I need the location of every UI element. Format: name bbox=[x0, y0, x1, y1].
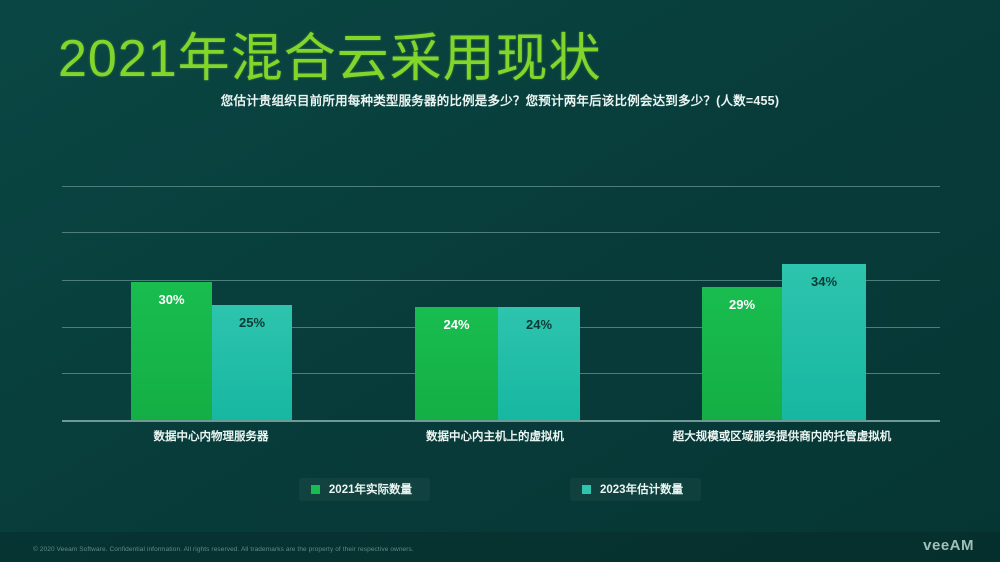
bar-2023-g0[interactable]: 25% bbox=[212, 305, 292, 422]
slide-canvas: 2021年混合云采用现状 您估计贵组织目前所用每种类型服务器的比例是多少？您预计… bbox=[0, 0, 1000, 562]
legend-label: 2021年实际数量 bbox=[329, 481, 412, 497]
bar-value-label: 29% bbox=[702, 297, 782, 312]
bar-2021-g2[interactable]: 29% bbox=[702, 287, 782, 422]
copyright-text: © 2020 Veeam Software. Confidential info… bbox=[33, 546, 414, 553]
category-label-0: 数据中心内物理服务器 bbox=[91, 428, 331, 444]
x-axis-line bbox=[62, 420, 940, 422]
chart-plot-area: 30% 25% 24% 24% 29% 34% bbox=[62, 180, 940, 422]
page-title: 2021年混合云采用现状 bbox=[58, 16, 602, 91]
bar-2023-g2[interactable]: 34% bbox=[782, 264, 866, 422]
gridline bbox=[62, 232, 940, 233]
category-label-1: 数据中心内主机上的虚拟机 bbox=[375, 428, 615, 444]
chart-subtitle: 您估计贵组织目前所用每种类型服务器的比例是多少？您预计两年后该比例会达到多少？(… bbox=[0, 90, 1000, 109]
legend-swatch-icon bbox=[582, 485, 591, 494]
bar-value-label: 34% bbox=[782, 274, 866, 289]
chart-legend: 2021年实际数量 2023年估计数量 bbox=[0, 478, 1000, 501]
veeam-logo: veeAM bbox=[923, 537, 974, 554]
category-label-2: 超大规模或区域服务提供商内的托管虚拟机 bbox=[632, 428, 932, 444]
bar-2021-g1[interactable]: 24% bbox=[415, 307, 498, 422]
bar-2021-g0[interactable]: 30% bbox=[131, 282, 212, 422]
bar-value-label: 25% bbox=[212, 315, 292, 330]
bar-value-label: 24% bbox=[415, 317, 498, 332]
bar-value-label: 30% bbox=[131, 292, 212, 307]
bar-value-label: 24% bbox=[498, 317, 580, 332]
legend-swatch-icon bbox=[311, 485, 320, 494]
legend-item-2021[interactable]: 2021年实际数量 bbox=[299, 478, 430, 501]
legend-label: 2023年估计数量 bbox=[600, 481, 683, 497]
gridline bbox=[62, 186, 940, 187]
bar-2023-g1[interactable]: 24% bbox=[498, 307, 580, 422]
legend-item-2023[interactable]: 2023年估计数量 bbox=[570, 478, 701, 501]
